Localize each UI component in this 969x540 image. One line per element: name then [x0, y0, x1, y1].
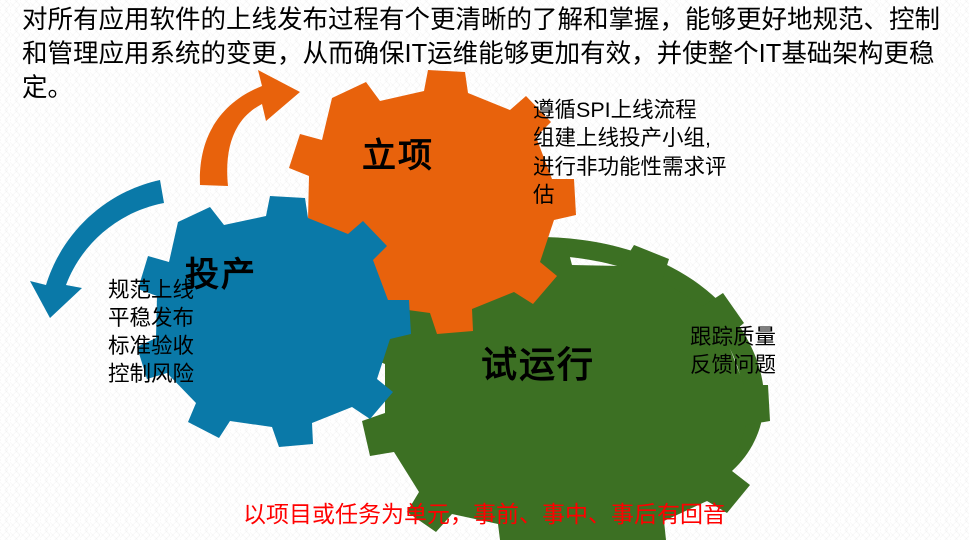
- footer-note-text: 以项目或任务为单元，事前、事中、事后有回音: [0, 495, 969, 529]
- gear-label-green: 试运行: [481, 336, 595, 388]
- note-right: 跟踪质量 反馈问题: [690, 324, 830, 380]
- note-top-right: 遵循SPI上线流程 组建上线投产小组, 进行非功能性需求评 估: [533, 96, 778, 210]
- headline-text: 对所有应用软件的上线发布过程有个更清晰的了解和掌握，能够更好地规范、控制和管理应…: [22, 4, 960, 106]
- slide-canvas: 对所有应用软件的上线发布过程有个更清晰的了解和掌握，能够更好地规范、控制和管理应…: [0, 0, 969, 540]
- gear-label-orange: 立项: [362, 128, 434, 177]
- note-left: 规范上线 平稳发布 标准验收 控制风险: [108, 277, 278, 389]
